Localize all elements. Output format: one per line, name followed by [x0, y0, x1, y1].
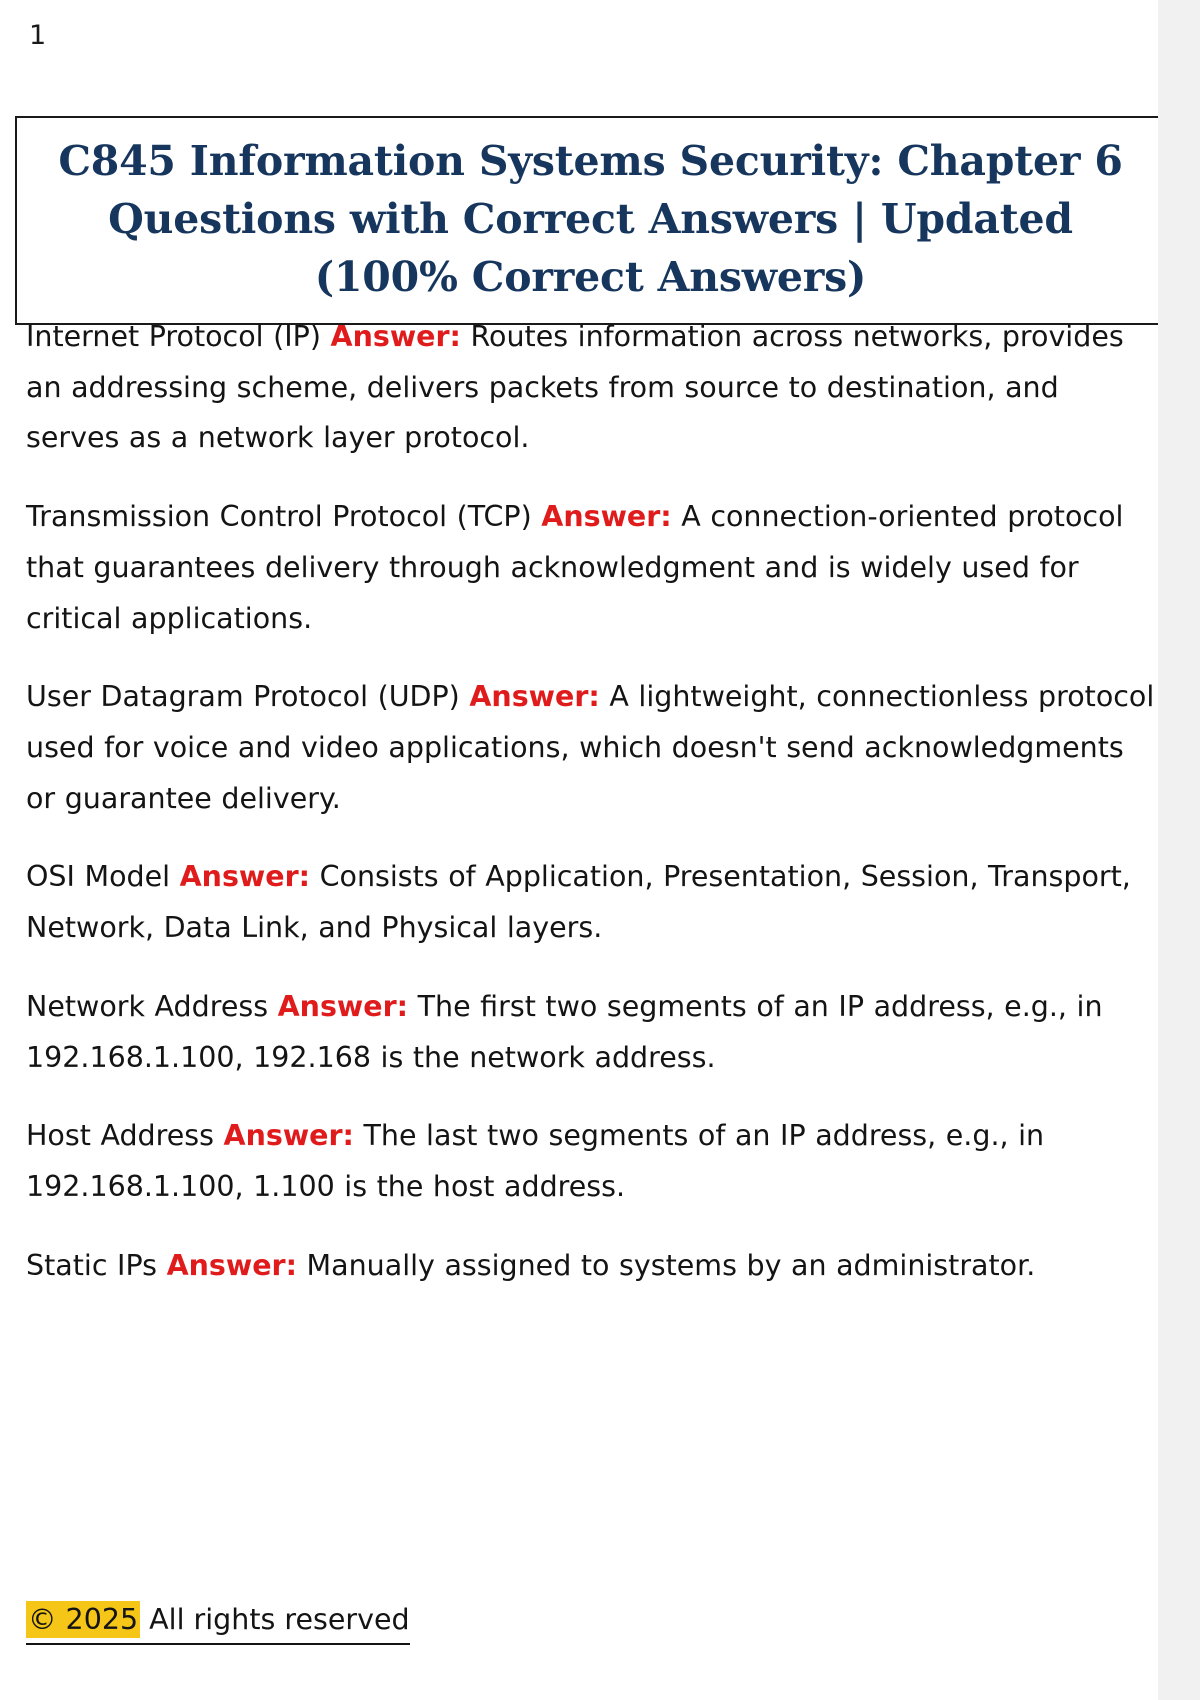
answer-label: Answer: [180, 860, 310, 893]
copyright-footer: © 2025 All rights reserved [26, 1600, 410, 1645]
qa-item: Transmission Control Protocol (TCP) Answ… [26, 492, 1158, 644]
qa-term: Static IPs [26, 1249, 167, 1282]
rights-reserved-text: All rights reserved [140, 1603, 410, 1636]
answer-label: Answer: [541, 500, 671, 533]
copyright-year: © 2025 [26, 1601, 140, 1638]
answer-label: Answer: [278, 990, 408, 1023]
qa-item: OSI Model Answer: Consists of Applicatio… [26, 852, 1158, 953]
qa-item: User Datagram Protocol (UDP) Answer: A l… [26, 672, 1158, 824]
page-number: 1 [29, 22, 46, 49]
qa-answer: Manually assigned to systems by an admin… [297, 1249, 1035, 1282]
viewer-right-gutter [1158, 0, 1200, 1700]
page-title: C845 Information Systems Security: Chapt… [35, 132, 1146, 307]
qa-term: Transmission Control Protocol (TCP) [26, 500, 541, 533]
qa-item: Host Address Answer: The last two segmen… [26, 1111, 1158, 1212]
document-title-box: C845 Information Systems Security: Chapt… [15, 116, 1166, 325]
document-page: 1 C845 Information Systems Security: Cha… [0, 0, 1158, 1700]
answer-label: Answer: [331, 320, 461, 353]
answer-label: Answer: [224, 1119, 354, 1152]
answer-label: Answer: [167, 1249, 297, 1282]
answer-label: Answer: [469, 680, 599, 713]
copyright-underline: © 2025 All rights reserved [26, 1600, 410, 1645]
qa-term: OSI Model [26, 860, 180, 893]
qa-term: Network Address [26, 990, 278, 1023]
qa-term: User Datagram Protocol (UDP) [26, 680, 469, 713]
qa-item: Static IPs Answer: Manually assigned to … [26, 1241, 1158, 1292]
qa-item: Network Address Answer: The first two se… [26, 982, 1158, 1083]
qa-list: Internet Protocol (IP) Answer: Routes in… [26, 312, 1158, 1320]
qa-item: Internet Protocol (IP) Answer: Routes in… [26, 312, 1158, 464]
qa-term: Host Address [26, 1119, 224, 1152]
qa-term: Internet Protocol (IP) [26, 320, 331, 353]
